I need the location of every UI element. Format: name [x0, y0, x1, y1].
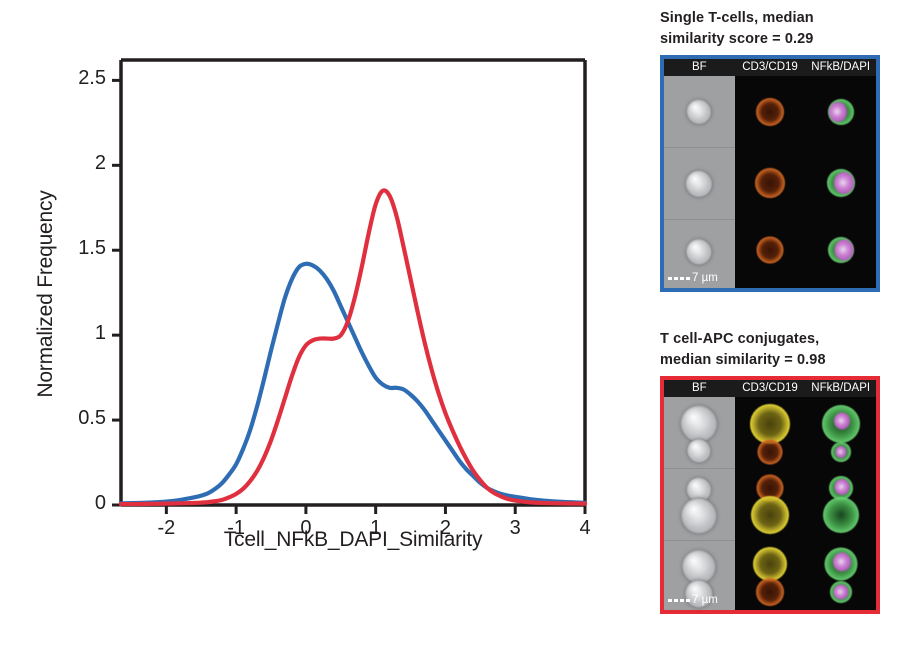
cell-row: [735, 218, 806, 288]
x-tick-label: 2: [415, 517, 475, 540]
gallery-image-rows: 7 µm: [664, 397, 876, 610]
cell-row: [735, 147, 806, 218]
nucleus-blob: [835, 479, 850, 495]
cell-blob: [755, 168, 785, 198]
scale-bar-line: [668, 277, 690, 280]
apc-blob: [680, 405, 718, 443]
cell-gallery-single-tcells: BF CD3/CD19 NFkB/DAPI: [660, 55, 880, 292]
cell-blob: [686, 239, 713, 266]
scale-bar-line: [668, 599, 690, 602]
panel-caption-single-tcells: Single T-cells, median similarity score …: [660, 8, 880, 50]
nucleus-blob: [833, 553, 851, 572]
image-column-nfkb-dapi: [805, 76, 876, 288]
nucleus-blob: [829, 102, 847, 122]
scale-bar-label: 7 µm: [692, 594, 718, 606]
y-tick-label: 2: [46, 152, 106, 175]
x-tick-label: 0: [276, 517, 336, 540]
gallery-column-headers: BF CD3/CD19 NFkB/DAPI: [664, 380, 876, 397]
y-axis-title: Normalized Frequency: [34, 144, 58, 444]
cell-row: [805, 539, 876, 610]
series-line-conjugates: [121, 190, 585, 504]
axis-frame: [121, 60, 585, 505]
cell-blob: [686, 99, 712, 125]
nucleus-blob: [835, 240, 854, 261]
image-column-brightfield: [664, 76, 735, 288]
panel-caption-conjugates: T cell-APC conjugates, median similarity…: [660, 329, 880, 371]
gallery-image-rows: 7 µm: [664, 76, 876, 288]
image-column-brightfield: [664, 397, 735, 610]
nucleus-blob: [833, 584, 848, 599]
cell-row: [735, 468, 806, 539]
x-tick-label: 3: [485, 517, 545, 540]
column-header-nfkb-dapi: NFkB/DAPI: [805, 380, 876, 397]
image-column-cd3-cd19: [735, 397, 806, 610]
cell-row: [664, 76, 735, 148]
column-header-nfkb-dapi: NFkB/DAPI: [805, 59, 876, 76]
cell-row: [664, 397, 735, 469]
column-header-bf: BF: [664, 380, 735, 397]
tcell-blob: [687, 438, 712, 463]
image-column-nfkb-dapi: [805, 397, 876, 610]
x-tick-label: 1: [346, 517, 406, 540]
cell-gallery-conjugates: BF CD3/CD19 NFkB/DAPI: [660, 376, 880, 614]
column-header-bf: BF: [664, 59, 735, 76]
histogram-figure: Tcell_NFkB_DAPI_Similarity Normalized Fr…: [0, 0, 620, 600]
y-tick-label: 1.5: [46, 237, 106, 260]
cell-row: [805, 147, 876, 218]
apc-blob: [751, 496, 789, 534]
cell-row: [735, 397, 806, 468]
y-tick-label: 0.5: [46, 407, 106, 430]
scale-bar-single-tcells: 7 µm: [668, 272, 718, 284]
x-tick-label: -2: [136, 517, 196, 540]
cell-row: [805, 397, 876, 468]
cell-row: [735, 76, 806, 147]
cell-row: [735, 539, 806, 610]
cell-blob: [757, 237, 784, 264]
apc-blob: [753, 547, 787, 581]
nucleus-blob: [834, 172, 854, 194]
y-tick-label: 2.5: [46, 67, 106, 90]
cell-row: [664, 148, 735, 220]
nucleus-blob: [834, 413, 850, 430]
x-tick-label: 4: [555, 517, 615, 540]
cell-blob: [756, 98, 784, 126]
panel-single-tcells: Single T-cells, median similarity score …: [660, 8, 880, 292]
cell-blob: [685, 170, 713, 198]
scale-bar-conjugates: 7 µm: [668, 594, 718, 606]
apc-blob: [681, 497, 718, 534]
cell-row: [805, 76, 876, 147]
image-column-cd3-cd19: [735, 76, 806, 288]
apc-blob: [823, 497, 859, 533]
y-tick-label: 1: [46, 322, 106, 345]
tcell-blob: [756, 578, 784, 606]
scale-bar-label: 7 µm: [692, 272, 718, 284]
cell-row: [805, 468, 876, 539]
cell-row: [664, 469, 735, 541]
nucleus-blob: [835, 446, 846, 458]
gallery-column-headers: BF CD3/CD19 NFkB/DAPI: [664, 59, 876, 76]
column-header-cd3-cd19: CD3/CD19: [735, 59, 806, 76]
apc-blob: [750, 404, 790, 444]
y-tick-label: 0: [46, 492, 106, 515]
tcell-blob: [758, 439, 783, 464]
panel-tcell-apc-conjugates: T cell-APC conjugates, median similarity…: [660, 329, 880, 614]
column-header-cd3-cd19: CD3/CD19: [735, 380, 806, 397]
cell-row: [805, 218, 876, 288]
x-tick-label: -1: [206, 517, 266, 540]
